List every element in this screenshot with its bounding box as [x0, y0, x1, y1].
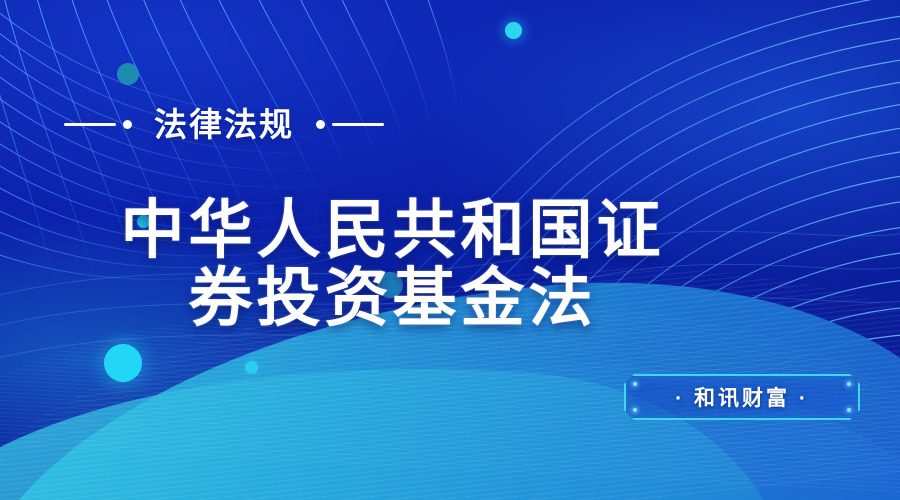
accent-dot-teal-top-left: [117, 63, 139, 85]
accent-dot-cyan-mid: [245, 361, 258, 374]
title-line-2: 券投资基金法: [0, 264, 785, 332]
category-label: 法律法规: [154, 108, 294, 141]
badge-corner-dot-bottom-right: [847, 408, 851, 412]
badge-corner-dot-top-right: [847, 382, 851, 386]
rule-left-bar: [64, 123, 116, 126]
title-line-1: 中华人民共和国证: [0, 196, 785, 264]
rule-right-bar: [332, 123, 384, 126]
banner-image: 法律法规 中华人民共和国证 券投资基金法 · 和讯财富 ·: [0, 0, 900, 500]
badge-corner-dot-bottom-left: [633, 408, 637, 412]
rule-left-dot: [123, 120, 132, 129]
page-title: 中华人民共和国证 券投资基金法: [0, 196, 900, 333]
rule-right: [316, 120, 384, 129]
banner-content: 法律法规 中华人民共和国证 券投资基金法 · 和讯财富 ·: [0, 0, 900, 500]
rule-right-dot: [316, 120, 325, 129]
brand-badge: · 和讯财富 ·: [624, 374, 860, 420]
brand-label: · 和讯财富 ·: [675, 382, 809, 412]
badge-corner-dot-top-left: [633, 382, 637, 386]
rule-left: [64, 120, 132, 129]
eyebrow-row: 法律法规: [64, 108, 384, 141]
accent-dot-cyan-top: [505, 22, 522, 39]
accent-dot-cyan-large: [104, 344, 142, 382]
